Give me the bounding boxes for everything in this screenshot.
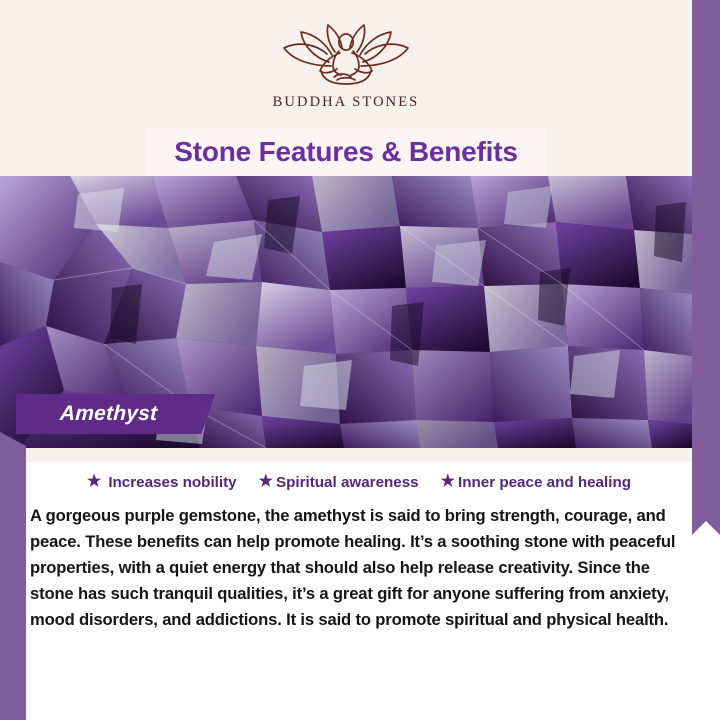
page-title-band: Stone Features & Benefits (145, 128, 547, 176)
benefit-item-3: ★ Inner peace and healing (441, 474, 631, 491)
benefit-label-3: Inner peace and healing (458, 474, 631, 491)
star-icon: ★ (87, 474, 101, 490)
amethyst-crystal-photo: Amethyst (0, 176, 692, 448)
stone-description: A gorgeous purple gemstone, the amethyst… (30, 503, 686, 633)
benefit-item-1: ★ Increases nobility (87, 474, 237, 491)
page-title: Stone Features & Benefits (174, 136, 518, 168)
benefit-item-2: ★ Spiritual awareness (259, 474, 419, 491)
benefits-list: ★ Increases nobility ★ Spiritual awarene… (26, 462, 692, 502)
product-info-poster: BUDDHA STONES Stone Features & Benefits (0, 0, 720, 720)
lotus-meditation-icon (271, 22, 421, 88)
frame-accent-left (0, 432, 26, 720)
star-icon: ★ (259, 474, 273, 490)
brand-logo: BUDDHA STONES (0, 22, 692, 111)
frame-accent-right (692, 0, 720, 535)
brand-name: BUDDHA STONES (273, 94, 420, 111)
section-divider (26, 448, 692, 462)
star-icon: ★ (441, 474, 455, 490)
poster-header: BUDDHA STONES Stone Features & Benefits (0, 0, 692, 176)
benefit-label-2: Spiritual awareness (276, 474, 419, 491)
benefit-label-1: Increases nobility (108, 474, 236, 491)
stone-name: Amethyst (59, 402, 158, 426)
stone-name-badge: Amethyst (16, 394, 215, 434)
